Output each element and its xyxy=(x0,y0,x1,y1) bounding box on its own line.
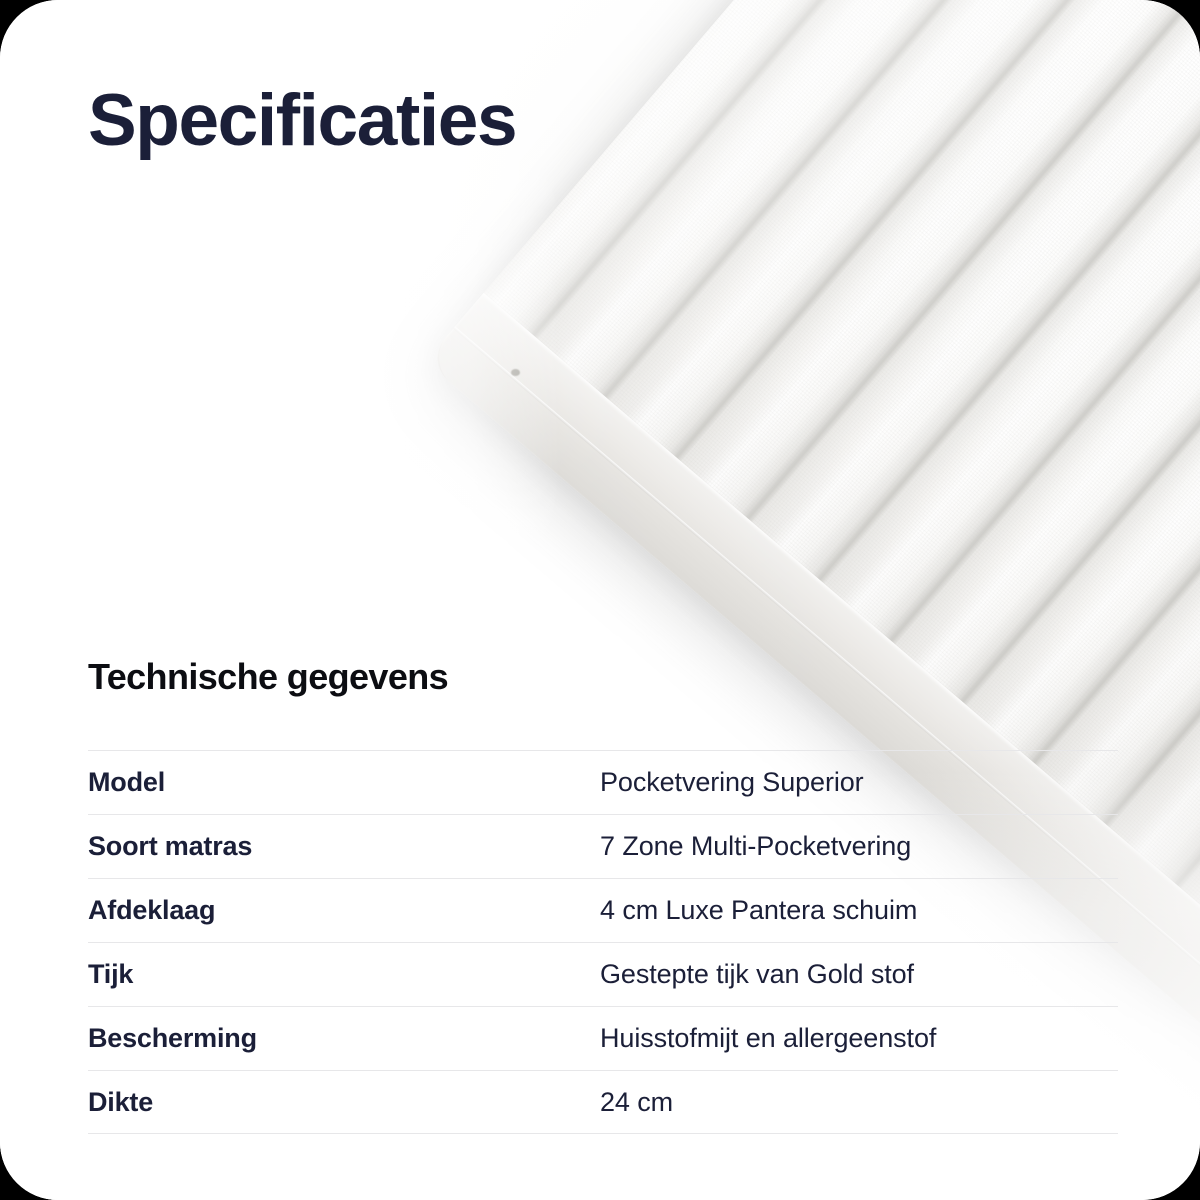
specifications-card: Specificaties Technische gegevens Model … xyxy=(0,0,1200,1200)
spec-value: 4 cm Luxe Pantera schuim xyxy=(600,895,1118,926)
table-row: Dikte 24 cm xyxy=(88,1070,1118,1134)
table-row: Soort matras 7 Zone Multi-Pocketvering xyxy=(88,814,1118,878)
spec-value: Huisstofmijt en allergeenstof xyxy=(600,1023,1118,1054)
table-row: Afdeklaag 4 cm Luxe Pantera schuim xyxy=(88,878,1118,942)
page-title: Specificaties xyxy=(88,84,516,157)
card-content: Specificaties Technische gegevens Model … xyxy=(0,0,1200,1200)
spec-label: Tijk xyxy=(88,959,600,990)
spec-label: Model xyxy=(88,767,600,798)
spec-value: Pocketvering Superior xyxy=(600,767,1118,798)
table-row: Bescherming Huisstofmijt en allergeensto… xyxy=(88,1006,1118,1070)
section-heading-technical-data: Technische gegevens xyxy=(88,657,448,697)
table-row: Model Pocketvering Superior xyxy=(88,750,1118,814)
specifications-table: Model Pocketvering Superior Soort matras… xyxy=(88,750,1118,1134)
spec-label: Bescherming xyxy=(88,1023,600,1054)
spec-value: Gestepte tijk van Gold stof xyxy=(600,959,1118,990)
spec-value: 7 Zone Multi-Pocketvering xyxy=(600,831,1118,862)
table-row: Tijk Gestepte tijk van Gold stof xyxy=(88,942,1118,1006)
spec-value: 24 cm xyxy=(600,1087,1118,1118)
spec-label: Afdeklaag xyxy=(88,895,600,926)
spec-label: Dikte xyxy=(88,1087,600,1118)
spec-label: Soort matras xyxy=(88,831,600,862)
